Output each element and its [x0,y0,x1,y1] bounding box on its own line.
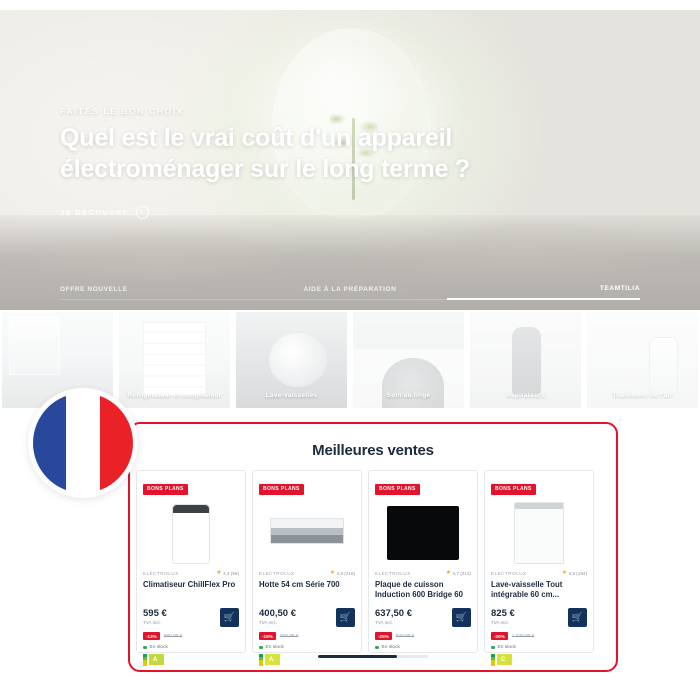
category-label-4: Aspirateurs [470,392,581,400]
product-brand: ELECTROLUX [375,571,411,576]
deal-badge: BONS PLANS [143,484,188,495]
category-label-1: Réfrigérateur et congélateur [119,392,230,400]
vat-label: TVA incl. [375,620,412,625]
category-tile-vacuum[interactable]: Aspirateurs [470,312,581,408]
energy-class-badge: A [149,654,164,665]
status-dot-icon [259,646,263,650]
product-price: 825 € [491,608,515,619]
datasheet-link[interactable]: Fiche d'information sur le produit [491,671,587,673]
hero-title: Quel est le vrai coût d'un appareil élec… [60,123,480,184]
category-tile-fridge[interactable]: Réfrigérateur et congélateur [119,312,230,408]
product-card[interactable]: BONS PLANS ELECTROLUX ★4,7 (213) Plaque … [368,470,478,653]
product-card-list: BONS PLANS ELECTROLUX ★4,4 (69) Climatis… [130,470,594,653]
category-tile-dishwasher[interactable]: Lave-vaisselles [236,312,347,408]
hero-banner[interactable]: FAITES LE BON CHOIX Quel est le vrai coû… [0,10,700,310]
page-root: FAITES LE BON CHOIX Quel est le vrai coû… [0,0,700,700]
discount-row: -13% 690,99 € [143,632,239,640]
add-to-cart-button[interactable]: 🛒 [336,608,355,627]
product-card[interactable]: BONS PLANS ELECTROLUX ★4,4 (69) Climatis… [136,470,246,653]
energy-class-badge: A [265,654,280,665]
stock-status: En stock [143,645,239,650]
old-price: 849,99 € [396,634,415,639]
product-brand: ELECTROLUX [143,571,179,576]
hero-carousel-tabs[interactable]: Offre Nouvelle Aide à la préparation Tea… [0,285,700,300]
status-dot-icon [143,646,147,650]
hero-tab-1[interactable]: Aide à la préparation [253,286,446,300]
product-price: 595 € [143,608,167,619]
product-name[interactable]: Lave-vaisselle Tout intégrable 60 cm... [491,580,587,601]
hero-content: FAITES LE BON CHOIX Quel est le vrai coû… [60,106,480,219]
flag-icon [33,393,133,493]
carousel-scrollbar[interactable] [318,655,428,658]
hero-tab-2[interactable]: TeamTilia [447,285,640,300]
old-price: 468,99 € [280,634,299,639]
vat-label: TVA incl. [491,620,515,625]
product-price: 400,50 € [259,608,296,619]
category-label-5: Traitement de l'air [587,392,698,400]
deal-badge: BONS PLANS [491,484,536,495]
energy-scale-icon [491,654,495,666]
vat-label: TVA incl. [259,620,296,625]
energy-scale-icon [143,654,147,666]
france-flag-badge [28,388,138,498]
bestsellers-title: Meilleures ventes [130,424,616,459]
category-tile-air[interactable]: Traitement de l'air [587,312,698,408]
product-card[interactable]: BONS PLANS ELECTROLUX ★4,8 (316) Hotte 5… [252,470,362,653]
discount-badge: -13% [143,632,160,640]
discount-row: -15% 468,99 € [259,632,355,640]
product-rating: ★4,7 (213) [445,570,471,576]
hero-cta-button[interactable]: JE DÉCOUVRE › [60,206,480,219]
discount-badge: -15% [259,632,276,640]
stock-label: En stock [382,645,400,650]
add-to-cart-button[interactable]: 🛒 [220,608,239,627]
cart-icon: 🛒 [572,613,583,622]
product-image [143,500,239,566]
product-name[interactable]: Plaque de cuisson Induction 600 Bridge 6… [375,580,471,601]
category-tile-laundry[interactable]: Soin au linge [353,312,464,408]
hero-cta-label: JE DÉCOUVRE [60,208,129,217]
star-icon: ★ [445,570,450,576]
energy-label: C [491,654,587,666]
status-dot-icon [375,646,379,650]
product-image [491,500,587,566]
product-brand: ELECTROLUX [491,571,527,576]
bestsellers-panel: Meilleures ventes ‹ › BONS PLANS ELECTRO… [128,422,618,672]
category-label-3: Soin au linge [353,392,464,400]
add-to-cart-button[interactable]: 🛒 [568,608,587,627]
product-card[interactable]: BONS PLANS ELECTROLUX ★4,5 (194) Lave-va… [484,470,594,653]
stock-status: En stock [375,645,471,650]
hero-eyebrow: FAITES LE BON CHOIX [60,106,480,116]
product-name[interactable]: Hotte 54 cm Série 700 [259,580,355,601]
add-to-cart-button[interactable]: 🛒 [452,608,471,627]
cart-icon: 🛒 [340,613,351,622]
energy-scale-icon [259,654,263,666]
star-icon: ★ [561,570,566,576]
product-rating: ★4,4 (69) [216,570,239,576]
deal-badge: BONS PLANS [375,484,420,495]
status-dot-icon [491,646,495,650]
discount-row: -25% 849,99 € [375,632,471,640]
stock-status: En stock [491,645,587,650]
discount-badge: -25% [375,632,392,640]
cart-icon: 🛒 [456,613,467,622]
product-rating: ★4,5 (194) [561,570,587,576]
energy-label: A [143,654,239,666]
old-price: 690,99 € [164,634,183,639]
cart-icon: 🛒 [224,613,235,622]
datasheet-link[interactable]: Fiche d'information sur le produit [259,671,355,673]
product-image [375,500,471,566]
stock-label: En stock [266,645,284,650]
category-label-2: Lave-vaisselles [236,392,347,400]
vat-label: TVA incl. [143,620,167,625]
product-rating: ★4,8 (316) [329,570,355,576]
hero-tab-0[interactable]: Offre Nouvelle [60,286,253,300]
deal-badge: BONS PLANS [259,484,304,495]
star-icon: ★ [216,570,221,576]
product-image [259,500,355,566]
stock-label: En stock [150,645,168,650]
old-price: 1 039,99 € [512,634,535,639]
discount-badge: -20% [491,632,508,640]
product-brand: ELECTROLUX [259,571,295,576]
datasheet-link[interactable]: Fiche d'information sur le produit [143,671,239,673]
star-icon: ★ [329,570,334,576]
product-name[interactable]: Climatiseur ChillFlex Pro [143,580,239,601]
stock-status: En stock [259,645,355,650]
arrow-right-icon: › [136,206,149,219]
discount-row: -20% 1 039,99 € [491,632,587,640]
stock-label: En stock [498,645,516,650]
carousel-scrollbar-thumb[interactable] [318,655,397,658]
product-price: 637,50 € [375,608,412,619]
energy-class-badge: C [497,654,512,665]
